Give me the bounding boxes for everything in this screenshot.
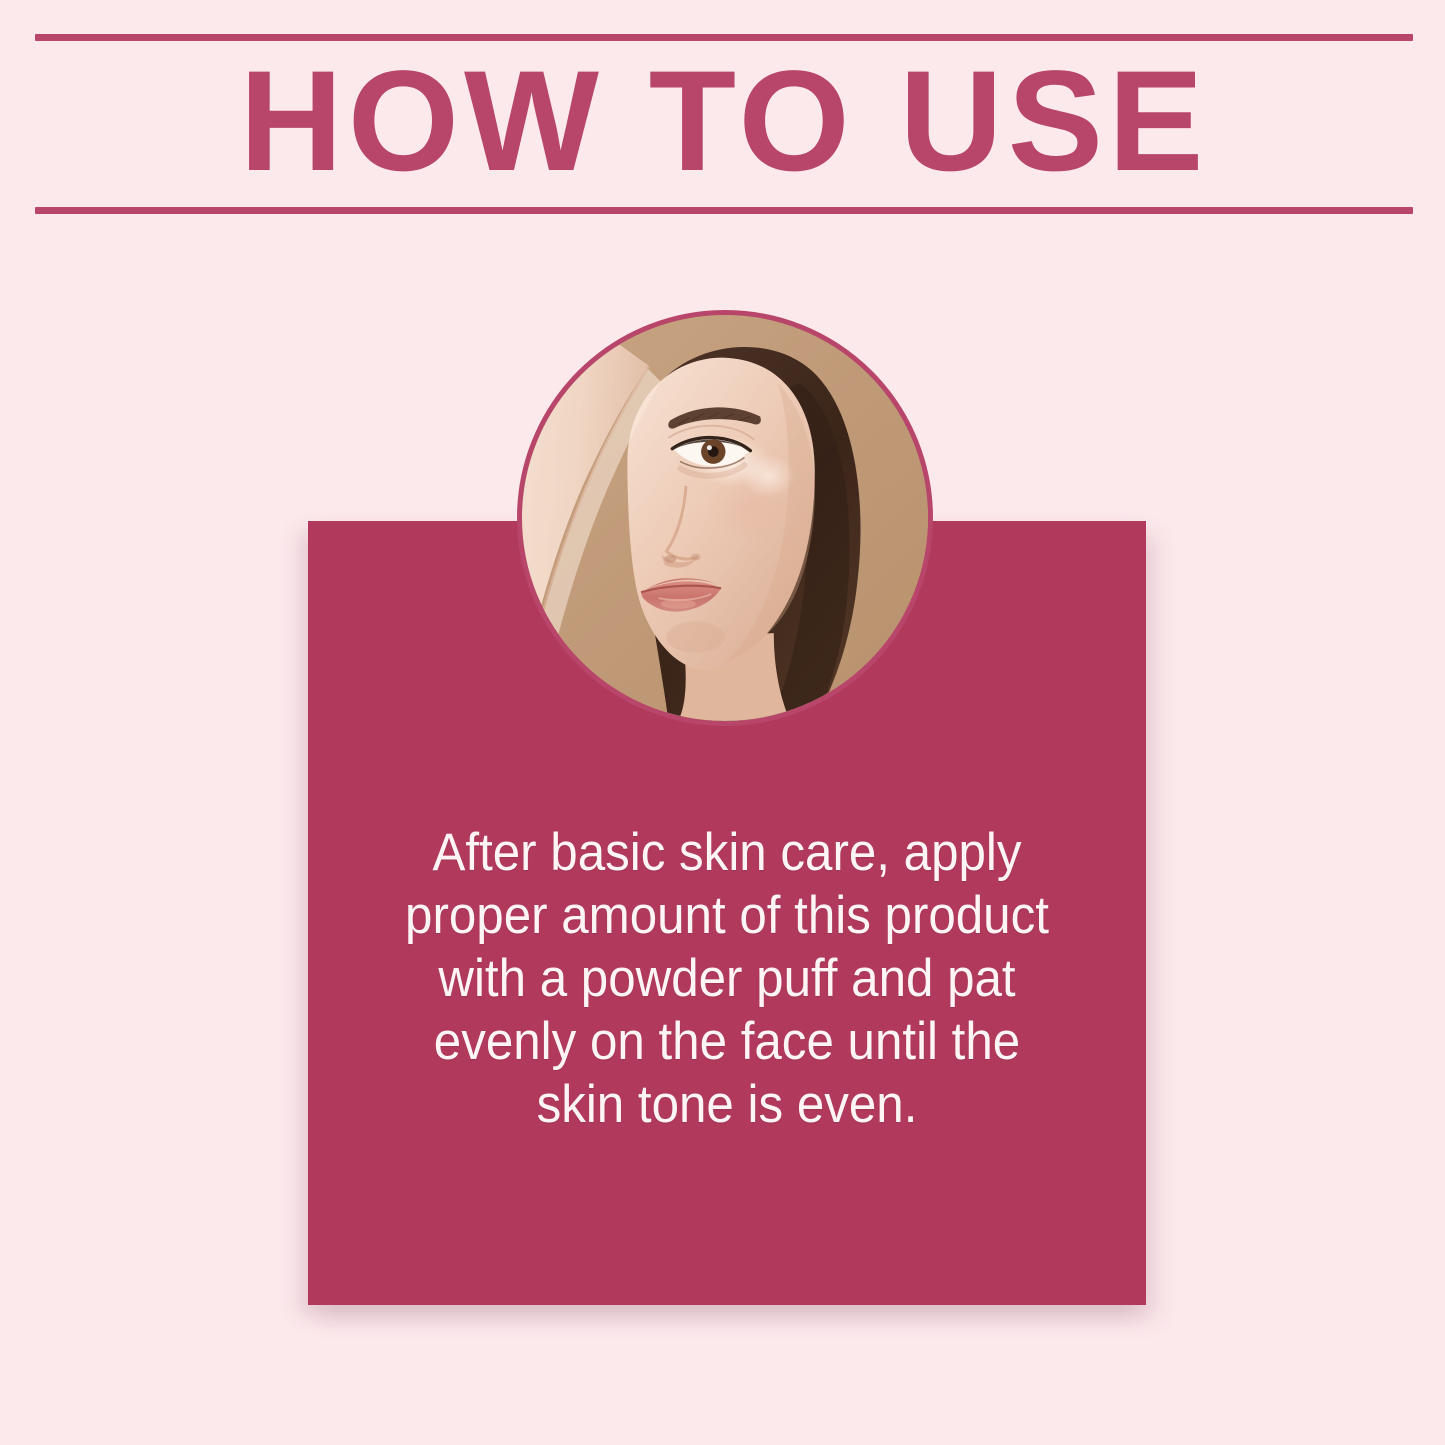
top-divider <box>35 34 1413 41</box>
model-photo <box>522 315 928 721</box>
header-block: HOW TO USE <box>35 34 1413 214</box>
face-portrait-icon <box>522 315 928 721</box>
page-title: HOW TO USE <box>35 52 1413 192</box>
how-to-use-poster: HOW TO USE After basic skin care, apply … <box>0 0 1445 1445</box>
bottom-divider <box>35 207 1413 214</box>
instruction-text: After basic skin care, apply proper amou… <box>384 821 1070 1136</box>
model-photo-circle <box>517 310 933 726</box>
